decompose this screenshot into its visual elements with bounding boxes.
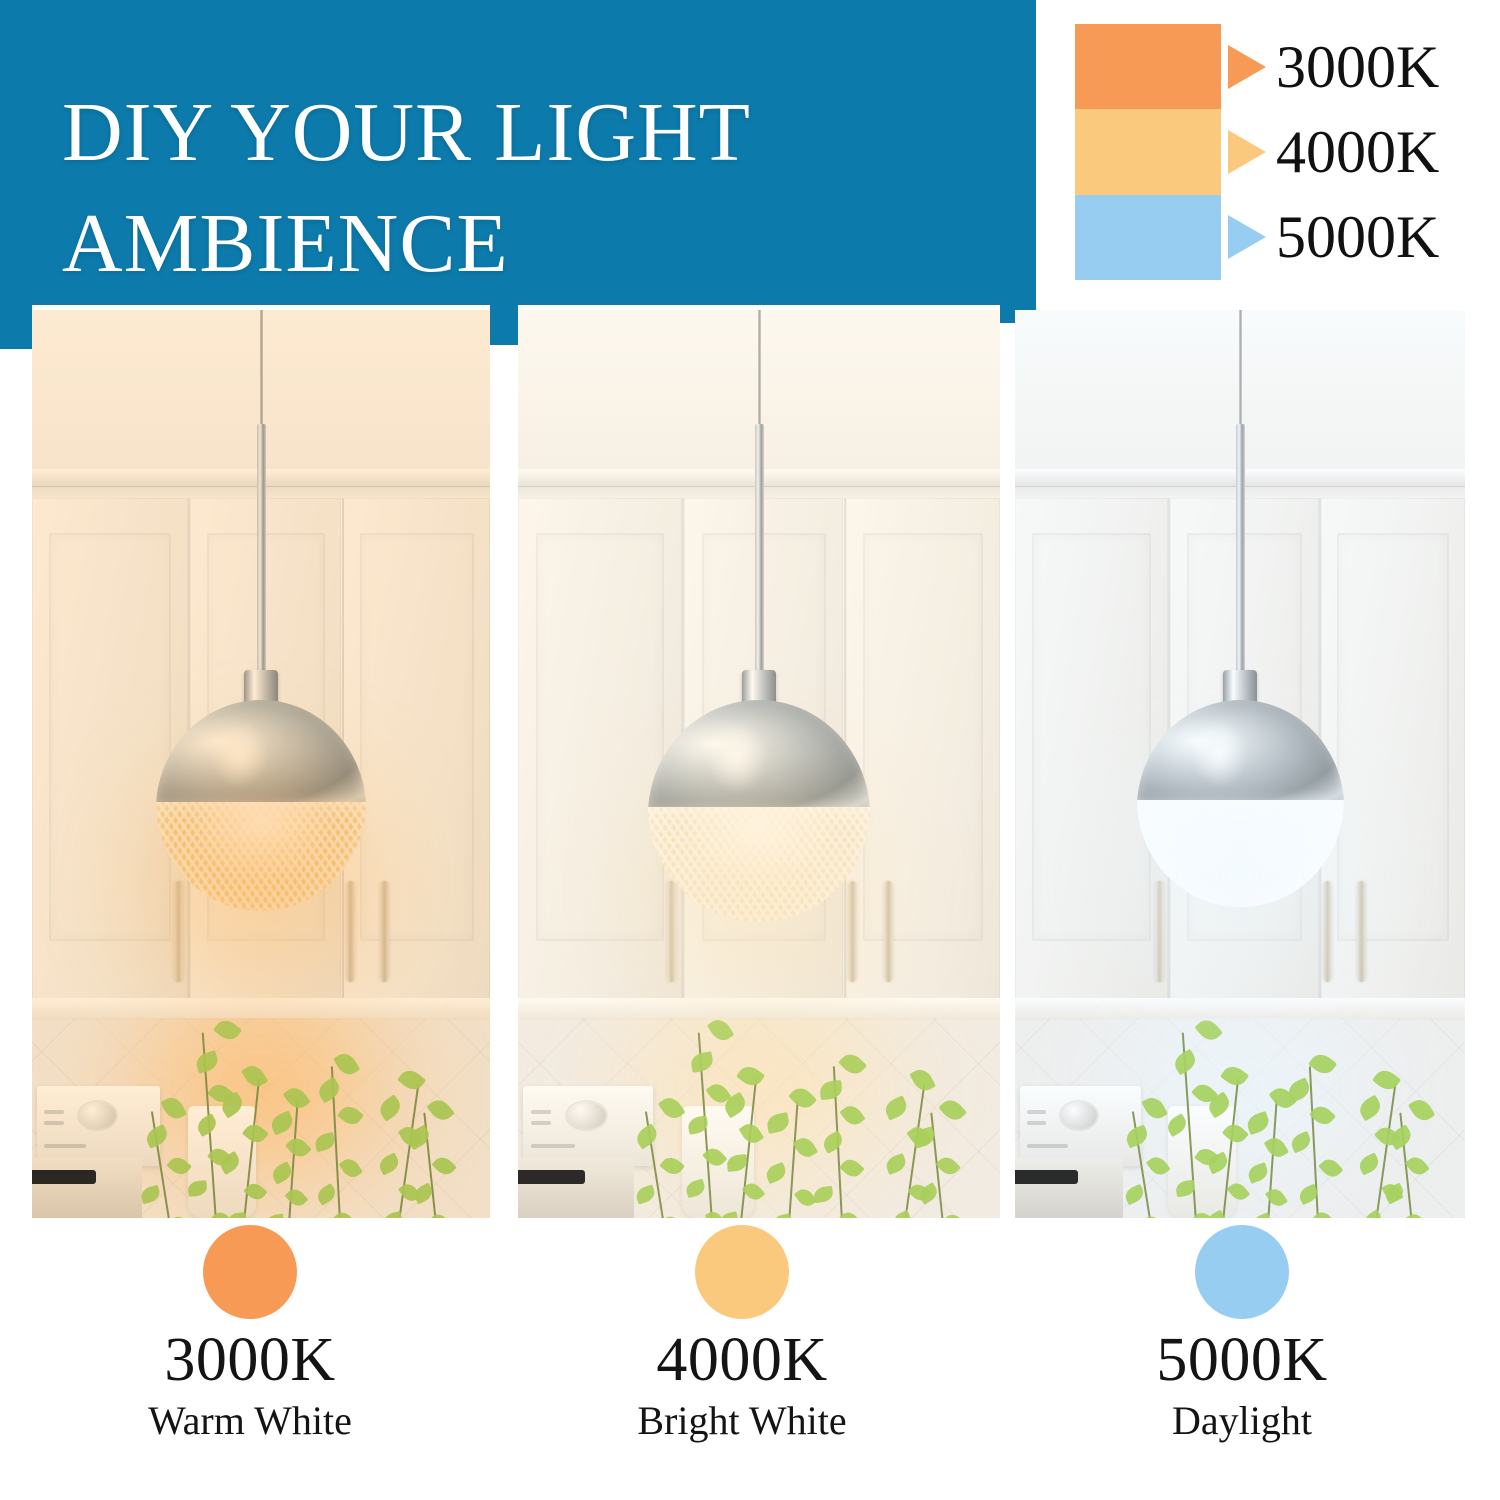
header-banner: DIY YOUR LIGHT AMBIENCE (0, 0, 1036, 305)
pendant-rod (1236, 424, 1245, 673)
globe-chrome-dome (648, 700, 870, 815)
banner-notch-mid (490, 305, 518, 345)
crystal-facets (648, 807, 870, 922)
legend-row-5000k: 5000K (1228, 195, 1486, 280)
globe-crystal-bowl (1137, 800, 1344, 908)
caption-5000k: 5000K Daylight (1012, 1225, 1472, 1446)
caption-name-3000k: Warm White (20, 1396, 480, 1446)
pendant-globe (156, 700, 367, 911)
crystal-facets (156, 802, 367, 912)
triangle-right-icon (1228, 215, 1266, 259)
kitchen-scene (518, 310, 1000, 1218)
page-title-line-2: AMBIENCE (62, 189, 1022, 300)
pendant-globe (1137, 700, 1344, 907)
color-dot-3000k (203, 1225, 297, 1319)
caption-temp-4000k: 4000K (512, 1329, 972, 1392)
legend-label-5000k: 5000K (1276, 207, 1439, 267)
legend-swatch-3000k (1075, 24, 1221, 109)
caption-name-4000k: Bright White (512, 1396, 972, 1446)
legend-swatch-4000k (1075, 109, 1221, 194)
pendant-rod (257, 424, 266, 673)
legend-label-4000k: 4000K (1276, 122, 1439, 182)
caption-4000k: 4000K Bright White (512, 1225, 972, 1446)
pendant-light (518, 310, 1000, 1218)
legend-swatch-5000k (1075, 195, 1221, 280)
kitchen-scene (32, 310, 490, 1218)
color-temperature-legend: 3000K 4000K 5000K (1050, 8, 1490, 296)
pendant-cord (1239, 310, 1242, 424)
product-photo-3000k (32, 310, 490, 1218)
triangle-right-icon (1228, 45, 1266, 89)
pendant-cord (260, 310, 263, 424)
pendant-globe (648, 700, 870, 922)
pendant-light (32, 310, 490, 1218)
globe-crystal-bowl (648, 807, 870, 922)
caption-3000k: 3000K Warm White (20, 1225, 480, 1446)
kitchen-scene (1015, 310, 1465, 1218)
product-photo-4000k (518, 310, 1000, 1218)
triangle-right-icon (1228, 130, 1266, 174)
pendant-cord (758, 310, 761, 424)
banner-notch-left (0, 305, 32, 349)
pendant-light (1015, 310, 1465, 1218)
legend-row-3000k: 3000K (1228, 24, 1486, 109)
globe-chrome-dome (156, 700, 367, 810)
legend-row-4000k: 4000K (1228, 109, 1486, 194)
legend-row-list: 3000K 4000K 5000K (1228, 24, 1486, 280)
legend-swatch-stack (1075, 24, 1221, 280)
caption-temp-5000k: 5000K (1012, 1329, 1472, 1392)
page-title-line-1: DIY YOUR LIGHT (62, 78, 1022, 189)
caption-temp-3000k: 3000K (20, 1329, 480, 1392)
crystal-facets (1137, 800, 1344, 908)
page-title: DIY YOUR LIGHT AMBIENCE (62, 78, 1022, 300)
globe-chrome-dome (1137, 700, 1344, 808)
product-photo-5000k (1015, 310, 1465, 1218)
legend-label-3000k: 3000K (1276, 37, 1439, 97)
globe-crystal-bowl (156, 802, 367, 912)
caption-name-5000k: Daylight (1012, 1396, 1472, 1446)
color-dot-4000k (695, 1225, 789, 1319)
pendant-rod (755, 424, 764, 673)
color-dot-5000k (1195, 1225, 1289, 1319)
